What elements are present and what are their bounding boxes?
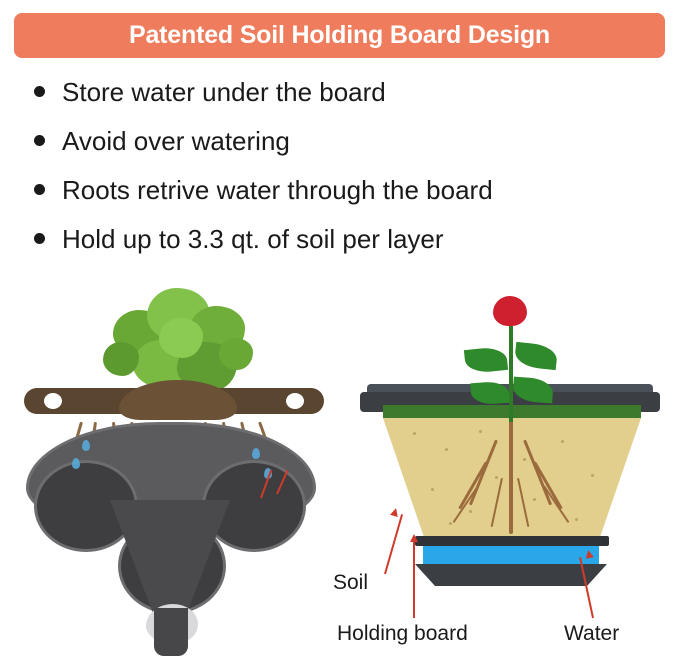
- callout-label-holding-board: Holding board: [337, 622, 468, 646]
- feature-bullet-list: Store water under the board Avoid over w…: [22, 72, 662, 268]
- callout-label-water: Water: [564, 622, 619, 646]
- list-item: Avoid over watering: [22, 121, 662, 163]
- bullet-dot-icon: [34, 233, 45, 244]
- rose-flower: [493, 296, 527, 326]
- list-item-label: Roots retrive water through the board: [62, 170, 493, 210]
- list-item-label: Hold up to 3.3 qt. of soil per layer: [62, 219, 444, 259]
- list-item: Store water under the board: [22, 72, 662, 114]
- product-infographic: Patented Soil Holding Board Design Store…: [0, 0, 679, 665]
- soil-holding-board: [24, 380, 324, 428]
- list-item: Hold up to 3.3 qt. of soil per layer: [22, 219, 662, 261]
- cross-section-diagram: [345, 272, 675, 665]
- bullet-dot-icon: [34, 86, 45, 97]
- planter-photo: [8, 272, 338, 657]
- list-item: Roots retrive water through the board: [22, 170, 662, 212]
- illustration-area: Soil Holding board Water: [0, 272, 679, 665]
- list-item-label: Avoid over watering: [62, 121, 290, 161]
- holding-board-layer: [415, 536, 609, 546]
- callout-label-soil: Soil: [333, 571, 368, 595]
- page-title: Patented Soil Holding Board Design: [129, 21, 550, 50]
- header-banner: Patented Soil Holding Board Design: [14, 13, 665, 58]
- water-reservoir: [423, 546, 599, 566]
- bullet-dot-icon: [34, 184, 45, 195]
- bullet-dot-icon: [34, 135, 45, 146]
- planter-body: [26, 422, 316, 657]
- list-item-label: Store water under the board: [62, 72, 386, 112]
